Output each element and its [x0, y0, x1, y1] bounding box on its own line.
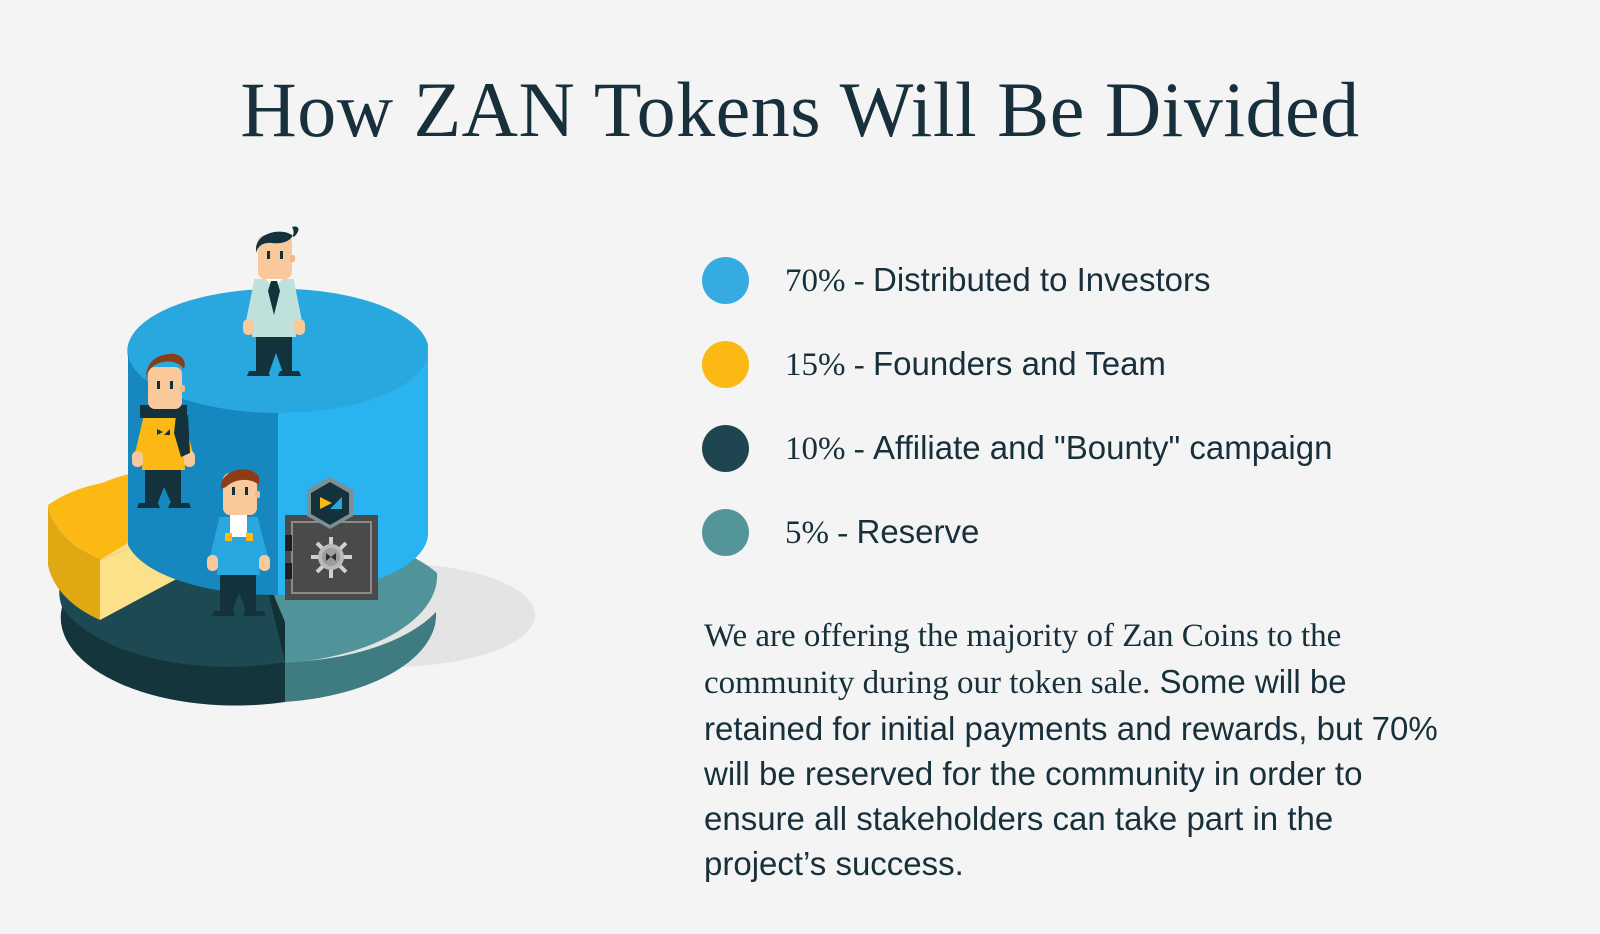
legend-swatch-reserve — [702, 509, 749, 556]
legend-separator-investors: - — [846, 263, 874, 299]
legend-label-affiliate: Affiliate and "Bounty" campaign — [873, 429, 1332, 466]
legend-label-reserve: Reserve — [857, 513, 980, 550]
legend-percent-affiliate: 10% — [785, 431, 846, 467]
legend-item-founders: 15% - Founders and Team — [702, 322, 1462, 406]
pie-chart-illustration — [40, 215, 560, 755]
legend-text-reserve: 5% - Reserve — [785, 512, 979, 553]
legend-label-investors: Distributed to Investors — [873, 261, 1210, 298]
legend-percent-reserve: 5% — [785, 515, 829, 551]
legend-item-affiliate: 10% - Affiliate and "Bounty" campaign — [702, 406, 1462, 490]
legend-item-reserve: 5% - Reserve — [702, 490, 1462, 574]
legend-item-investors: 70% - Distributed to Investors — [702, 238, 1462, 322]
legend-text-investors: 70% - Distributed to Investors — [785, 260, 1210, 301]
legend-swatch-founders — [702, 341, 749, 388]
page-title: How ZAN Tokens Will Be Divided — [0, 60, 1600, 160]
legend-text-founders: 15% - Founders and Team — [785, 344, 1166, 385]
legend-label-founders: Founders and Team — [873, 345, 1166, 382]
legend-swatch-investors — [702, 257, 749, 304]
legend-text-affiliate: 10% - Affiliate and "Bounty" campaign — [785, 428, 1332, 469]
chart-legend: 70% - Distributed to Investors 15% - Fou… — [702, 238, 1462, 574]
legend-percent-investors: 70% — [785, 263, 846, 299]
legend-percent-founders: 15% — [785, 347, 846, 383]
legend-separator-founders: - — [846, 347, 874, 383]
right-content-column: 70% - Distributed to Investors 15% - Fou… — [702, 238, 1462, 886]
legend-separator-affiliate: - — [846, 431, 874, 467]
legend-swatch-affiliate — [702, 425, 749, 472]
legend-separator-reserve: - — [829, 515, 857, 551]
body-paragraph: We are offering the majority of Zan Coin… — [704, 612, 1464, 886]
